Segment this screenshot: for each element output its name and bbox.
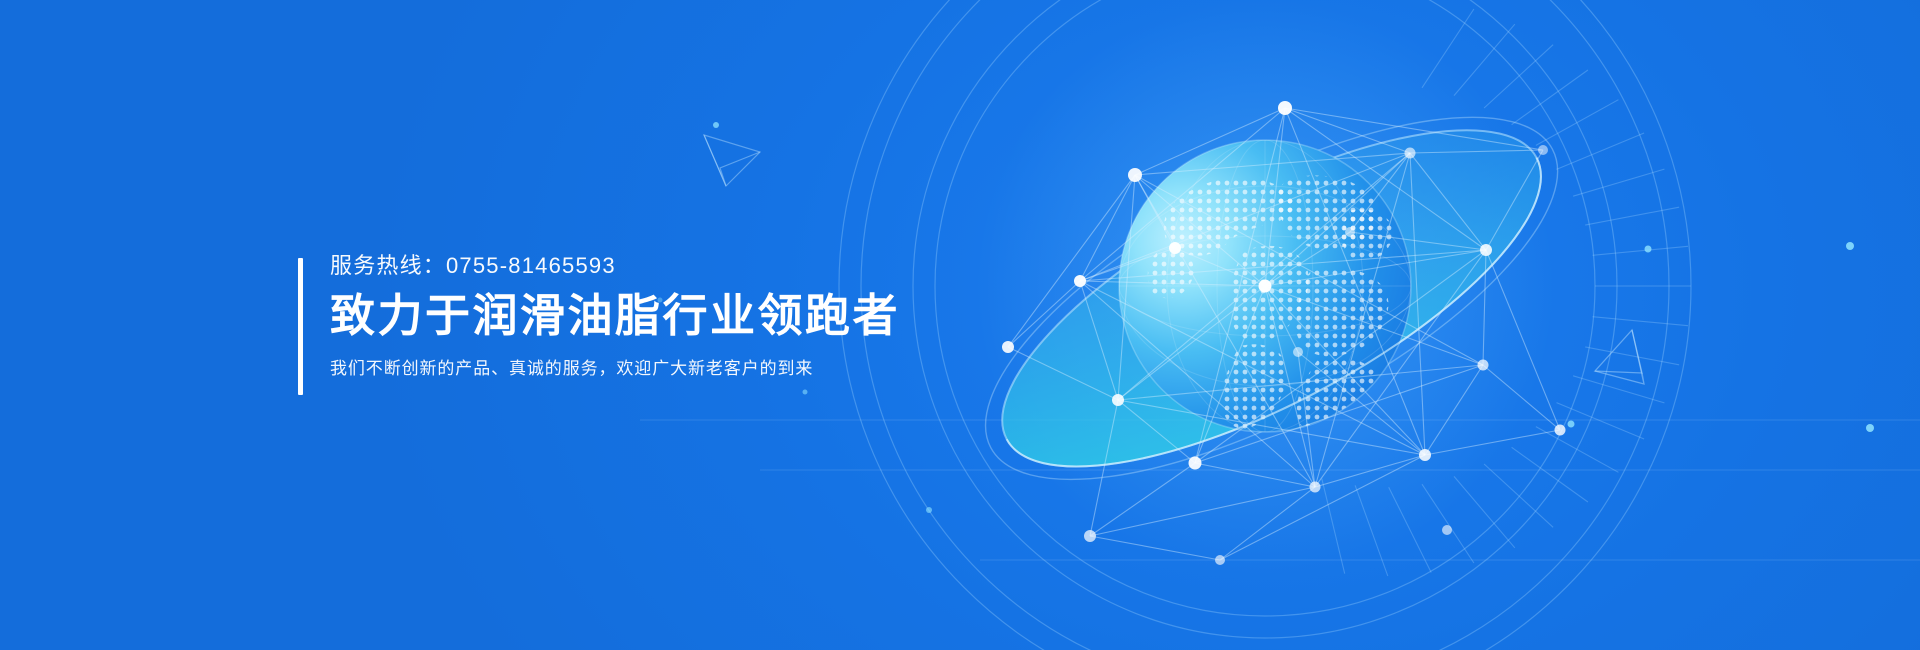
banner-artwork <box>0 0 1920 650</box>
page-subtitle: 我们不断创新的产品、真诚的服务，欢迎广大新老客户的到来 <box>330 360 900 377</box>
hero-copy: 服务热线：0755-81465593 致力于润滑油脂行业领跑者 我们不断创新的产… <box>298 255 900 377</box>
wireframe-triangle-icon <box>704 135 760 186</box>
service-hotline: 服务热线：0755-81465593 <box>330 255 900 277</box>
hero-banner: 服务热线：0755-81465593 致力于润滑油脂行业领跑者 我们不断创新的产… <box>0 0 1920 650</box>
page-title: 致力于润滑油脂行业领跑者 <box>330 293 900 338</box>
vertical-accent-bar <box>298 258 303 395</box>
